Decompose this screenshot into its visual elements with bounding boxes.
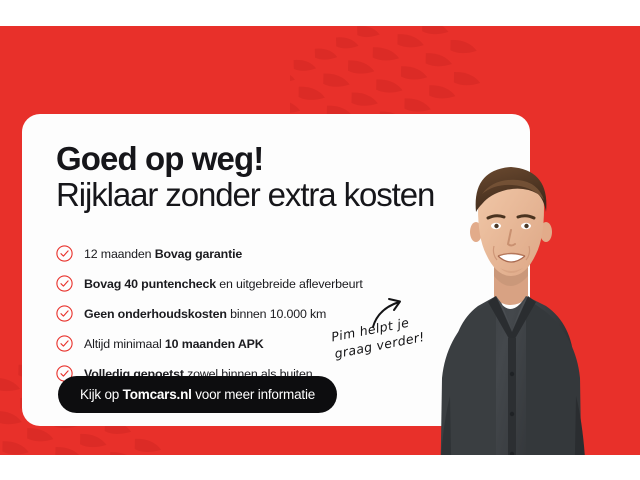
list-item-label: Bovag 40 puntencheck en uitgebreide afle… bbox=[84, 277, 363, 291]
list-item-label: Geen onderhoudskosten binnen 10.000 km bbox=[84, 307, 326, 321]
top-white-margin bbox=[0, 0, 640, 26]
check-circle-icon bbox=[56, 335, 73, 352]
check-circle-icon bbox=[56, 305, 73, 322]
list-item-label: 12 maanden Bovag garantie bbox=[84, 247, 242, 261]
check-circle-icon bbox=[56, 275, 73, 292]
curved-arrow-up-right-icon bbox=[370, 296, 412, 330]
cta-button[interactable]: Kijk op Tomcars.nl voor meer informatie bbox=[58, 376, 337, 413]
check-circle-icon bbox=[56, 245, 73, 262]
bottom-white-margin bbox=[0, 455, 640, 480]
list-item-label: Altijd minimaal 10 maanden APK bbox=[84, 337, 264, 351]
cta-label: Kijk op Tomcars.nl voor meer informatie bbox=[80, 387, 315, 402]
promo-banner: Goed op weg! Rijklaar zonder extra koste… bbox=[0, 0, 640, 480]
pim-portrait bbox=[432, 146, 640, 455]
